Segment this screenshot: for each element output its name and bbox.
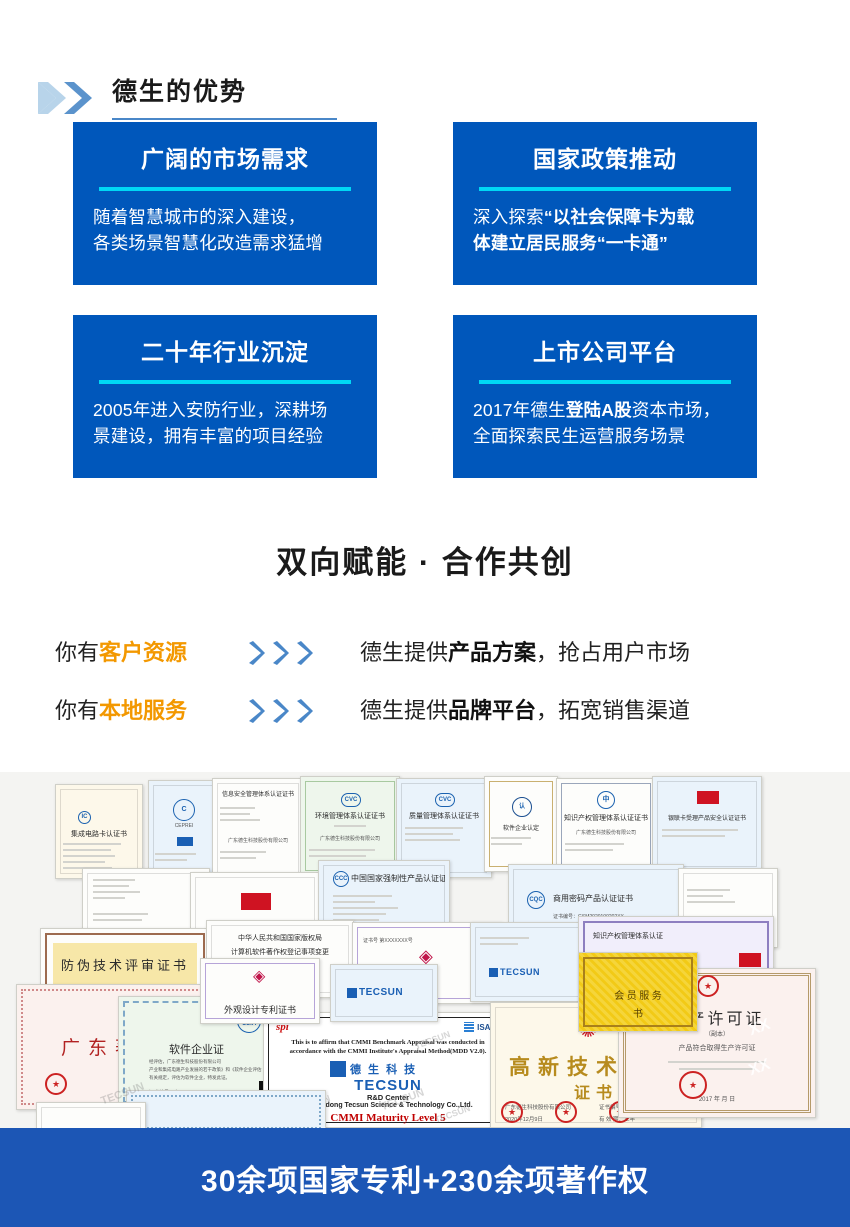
patent-emblem-icon: ◈: [419, 947, 433, 965]
title-underline: [112, 118, 337, 120]
tecsun-brand-block: 德 生 科 技: [330, 1061, 417, 1077]
enablement-left-prefix: 你有: [55, 698, 99, 723]
certificate-title: 信息安全管理体系认证证书: [213, 789, 303, 798]
enablement-right-bold: 产品方案: [448, 640, 536, 665]
certificate-title: 外观设计专利证书: [201, 1003, 319, 1016]
certificate-title: 知识产权管理体系认证: [593, 931, 759, 941]
card-body-line: 全面探索民生运营服务场景: [473, 423, 737, 449]
enablement-left-prefix: 你有: [55, 640, 99, 665]
unionpay-logo-icon: [241, 893, 271, 910]
kingsoft-logo-icon: [739, 953, 761, 967]
card-body-line: 2005年进入安防行业，深耕场: [93, 397, 357, 423]
isaca-mark-icon: [464, 1022, 474, 1032]
advantage-card: 二十年行业沉淀 2005年进入安防行业，深耕场景建设，拥有丰富的项目经验: [73, 315, 377, 478]
certificate-company: 广东德生科技股份有限公司: [557, 829, 655, 836]
org-logo-icon: 中: [597, 791, 615, 809]
certificate-company: 广东德生科技股份有限公司: [301, 835, 399, 842]
enablement-left-highlight: 本地服务: [99, 698, 187, 723]
card-body: 深入探索“以社会保障卡为载体建立居民服务“一卡通”: [473, 204, 737, 256]
certificate-card: [36, 1102, 146, 1128]
cqc-logo-icon: CQC: [527, 891, 545, 909]
chevron-right-icon: [245, 640, 267, 666]
card-body-line: 随着智慧城市的深入建设，: [93, 204, 357, 230]
chevron-right-icon: [269, 640, 291, 666]
license-date: 2017 年 月 日: [619, 1094, 815, 1103]
certificate-card: TECSUN: [470, 922, 584, 1002]
footer-banner: 30余项国家专利+230余项著作权: [0, 1128, 850, 1227]
card-body: 2005年进入安防行业，深耕场景建设，拥有丰富的项目经验: [93, 397, 357, 449]
card-body-line: 2017年德生登陆A股资本市场，: [473, 397, 737, 423]
brand-name-cn: 德 生 科 技: [350, 1061, 417, 1077]
cvc-logo-icon: CVC: [341, 793, 361, 807]
footer-text: 30余项国家专利+230余项著作权: [201, 1156, 649, 1200]
certificate-title: 软件企业认定: [485, 823, 557, 832]
chevron-right-icon: [269, 698, 291, 724]
advantage-card-grid: 广阔的市场需求 随着智慧城市的深入建设，各类场景智慧化改造需求猛增 国家政策推动…: [0, 122, 850, 478]
card-divider: [99, 380, 351, 384]
card-body: 2017年德生登陆A股资本市场，全面探索民生运营服务场景: [473, 397, 737, 449]
enablement-right: 德生提供产品方案，抢占用户市场: [360, 636, 690, 670]
chevron-group: [36, 80, 104, 116]
card-title: 国家政策推动: [473, 144, 737, 174]
certificate-card: IC 集成电路卡认证书: [55, 784, 143, 879]
cmmi-affirm-line-1: This is to affirm that CMMI Benchmark Ap…: [274, 1039, 502, 1046]
page-title: 德生的优势: [112, 76, 247, 108]
certificate-card: C CEPREI: [148, 780, 220, 880]
ccc-logo-icon: CCC: [333, 871, 349, 887]
tecsun-logo: TECSUN: [347, 987, 403, 998]
org-seal-icon: 认: [512, 797, 532, 817]
org-logo-icon: C: [173, 799, 195, 821]
enablement-right-bold: 品牌平台: [448, 698, 536, 723]
card-body-line: 景建设，拥有丰富的项目经验: [93, 423, 357, 449]
certificate-card: ◈ 外观设计专利证书: [200, 958, 320, 1024]
enablement-title: 双向赋能 · 合作共创: [0, 542, 850, 584]
chevron-right-icon-dark: [62, 80, 96, 116]
certificate-title: 集成电路卡认证书: [56, 829, 142, 839]
advantage-card: 国家政策推动 深入探索“以社会保障卡为载体建立居民服务“一卡通”: [453, 122, 757, 285]
unionpay-logo-icon: [697, 791, 719, 804]
official-seal-icon: [501, 1101, 523, 1123]
enablement-right-prefix: 德生提供: [360, 698, 448, 723]
enablement-left: 你有客户资源: [55, 636, 187, 670]
card-title: 上市公司平台: [473, 337, 737, 367]
advantage-card: 广阔的市场需求 随着智慧城市的深入建设，各类场景智慧化改造需求猛增: [73, 122, 377, 285]
advantages-page: 德生的优势 广阔的市场需求 随着智慧城市的深入建设，各类场景智慧化改造需求猛增 …: [0, 0, 850, 1227]
enablement-row: 你有客户资源 德生提供产品方案，抢占用户市场: [0, 628, 850, 686]
certificate-collage: IC 集成电路卡认证书 C CEPREI 信息安全管理体系认证证书 广东德生科技…: [0, 772, 850, 1128]
official-seal-icon: [697, 975, 719, 997]
org-seal-icon: IC: [78, 811, 91, 824]
tecsun-mark-icon: [330, 1061, 346, 1077]
enablement-right: 德生提供品牌平台，拓宽销售渠道: [360, 694, 690, 728]
certificate-subtitle: 书: [579, 1005, 697, 1020]
enablement-left: 你有本地服务: [55, 694, 187, 728]
official-seal-icon: [45, 1073, 67, 1095]
cmmi-affirm-line-2: accordance with the CMMI Institute's App…: [274, 1048, 502, 1055]
certificate-card: [126, 1090, 326, 1128]
enablement-right-suffix: ，抢占用户市场: [536, 640, 690, 665]
card-divider: [99, 187, 351, 191]
card-body: 随着智慧城市的深入建设，各类场景智慧化改造需求猛增: [93, 204, 357, 256]
card-body-line: 深入探索“以社会保障卡为载: [473, 204, 737, 230]
certificate-title: 中国国家强制性产品认证证书: [351, 873, 445, 884]
certificate-org: CEPREI: [149, 823, 219, 829]
certificate-title: 知识产权管理体系认证证书: [557, 813, 655, 823]
certificate-card: 会 员 服 务 书: [578, 952, 698, 1032]
chevron-right-icon: [245, 698, 267, 724]
official-seal-icon: [679, 1071, 707, 1099]
tecsun-logo: TECSUN: [489, 967, 540, 977]
cvc-logo-icon: CVC: [435, 793, 455, 807]
card-title: 二十年行业沉淀: [93, 337, 357, 367]
license-note: 产品符合取得生产许可证: [619, 1043, 815, 1053]
certificate-card: 中 知识产权管理体系认证证书 广东德生科技股份有限公司: [556, 778, 656, 876]
certificate-card: 信息安全管理体系认证证书 广东德生科技股份有限公司: [212, 778, 304, 878]
accreditation-mark-icon: [177, 837, 193, 846]
certificate-subtitle: 计算机软件著作权登记事项变更: [207, 947, 353, 957]
card-title: 广阔的市场需求: [93, 144, 357, 174]
certificate-card: 银联卡受理产品安全认证证书: [652, 776, 762, 872]
certificate-company: 广东德生科技股份有限公司: [213, 837, 303, 844]
chevron-right-icon: [293, 698, 315, 724]
certificate-card: TECSUN: [330, 964, 438, 1022]
certificate-title: 会 员 服 务: [579, 987, 697, 1002]
enablement-right-suffix: ，拓宽销售渠道: [536, 698, 690, 723]
card-divider: [479, 187, 731, 191]
certificate-title: 中华人民共和国国家版权局: [207, 933, 353, 943]
section-header: 德生的优势: [0, 36, 850, 90]
card-body-line: 各类场景智慧化改造需求猛增: [93, 230, 357, 256]
certificate-title: 防伪技术评审证书: [41, 955, 209, 974]
enablement-right-prefix: 德生提供: [360, 640, 448, 665]
arrow-group: [245, 698, 315, 724]
patent-emblem-icon: ◈: [253, 969, 265, 985]
card-divider: [479, 380, 731, 384]
enablement-left-highlight: 客户资源: [99, 640, 187, 665]
certificate-card: 认 软件企业认定: [484, 776, 558, 872]
enablement-row: 你有本地服务 德生提供品牌平台，拓宽销售渠道: [0, 686, 850, 744]
arrow-group: [245, 640, 315, 666]
official-seal-icon: [555, 1101, 577, 1123]
advantage-card: 上市公司平台 2017年德生登陆A股资本市场，全面探索民生运营服务场景: [453, 315, 757, 478]
chevron-right-icon: [293, 640, 315, 666]
certificate-title: 质量管理体系认证证书: [397, 811, 491, 821]
certificate-title: 环境管理体系认证证书: [301, 811, 399, 821]
card-body-line: 体建立居民服务“一卡通”: [473, 230, 737, 256]
enablement-rows: 你有客户资源 德生提供产品方案，抢占用户市场 你有本地服务 德生提供品牌平台，拓…: [0, 628, 850, 744]
certificate-title: 银联卡受理产品安全认证证书: [653, 813, 761, 822]
certificate-title: 商用密码产品认证证书: [553, 893, 677, 904]
